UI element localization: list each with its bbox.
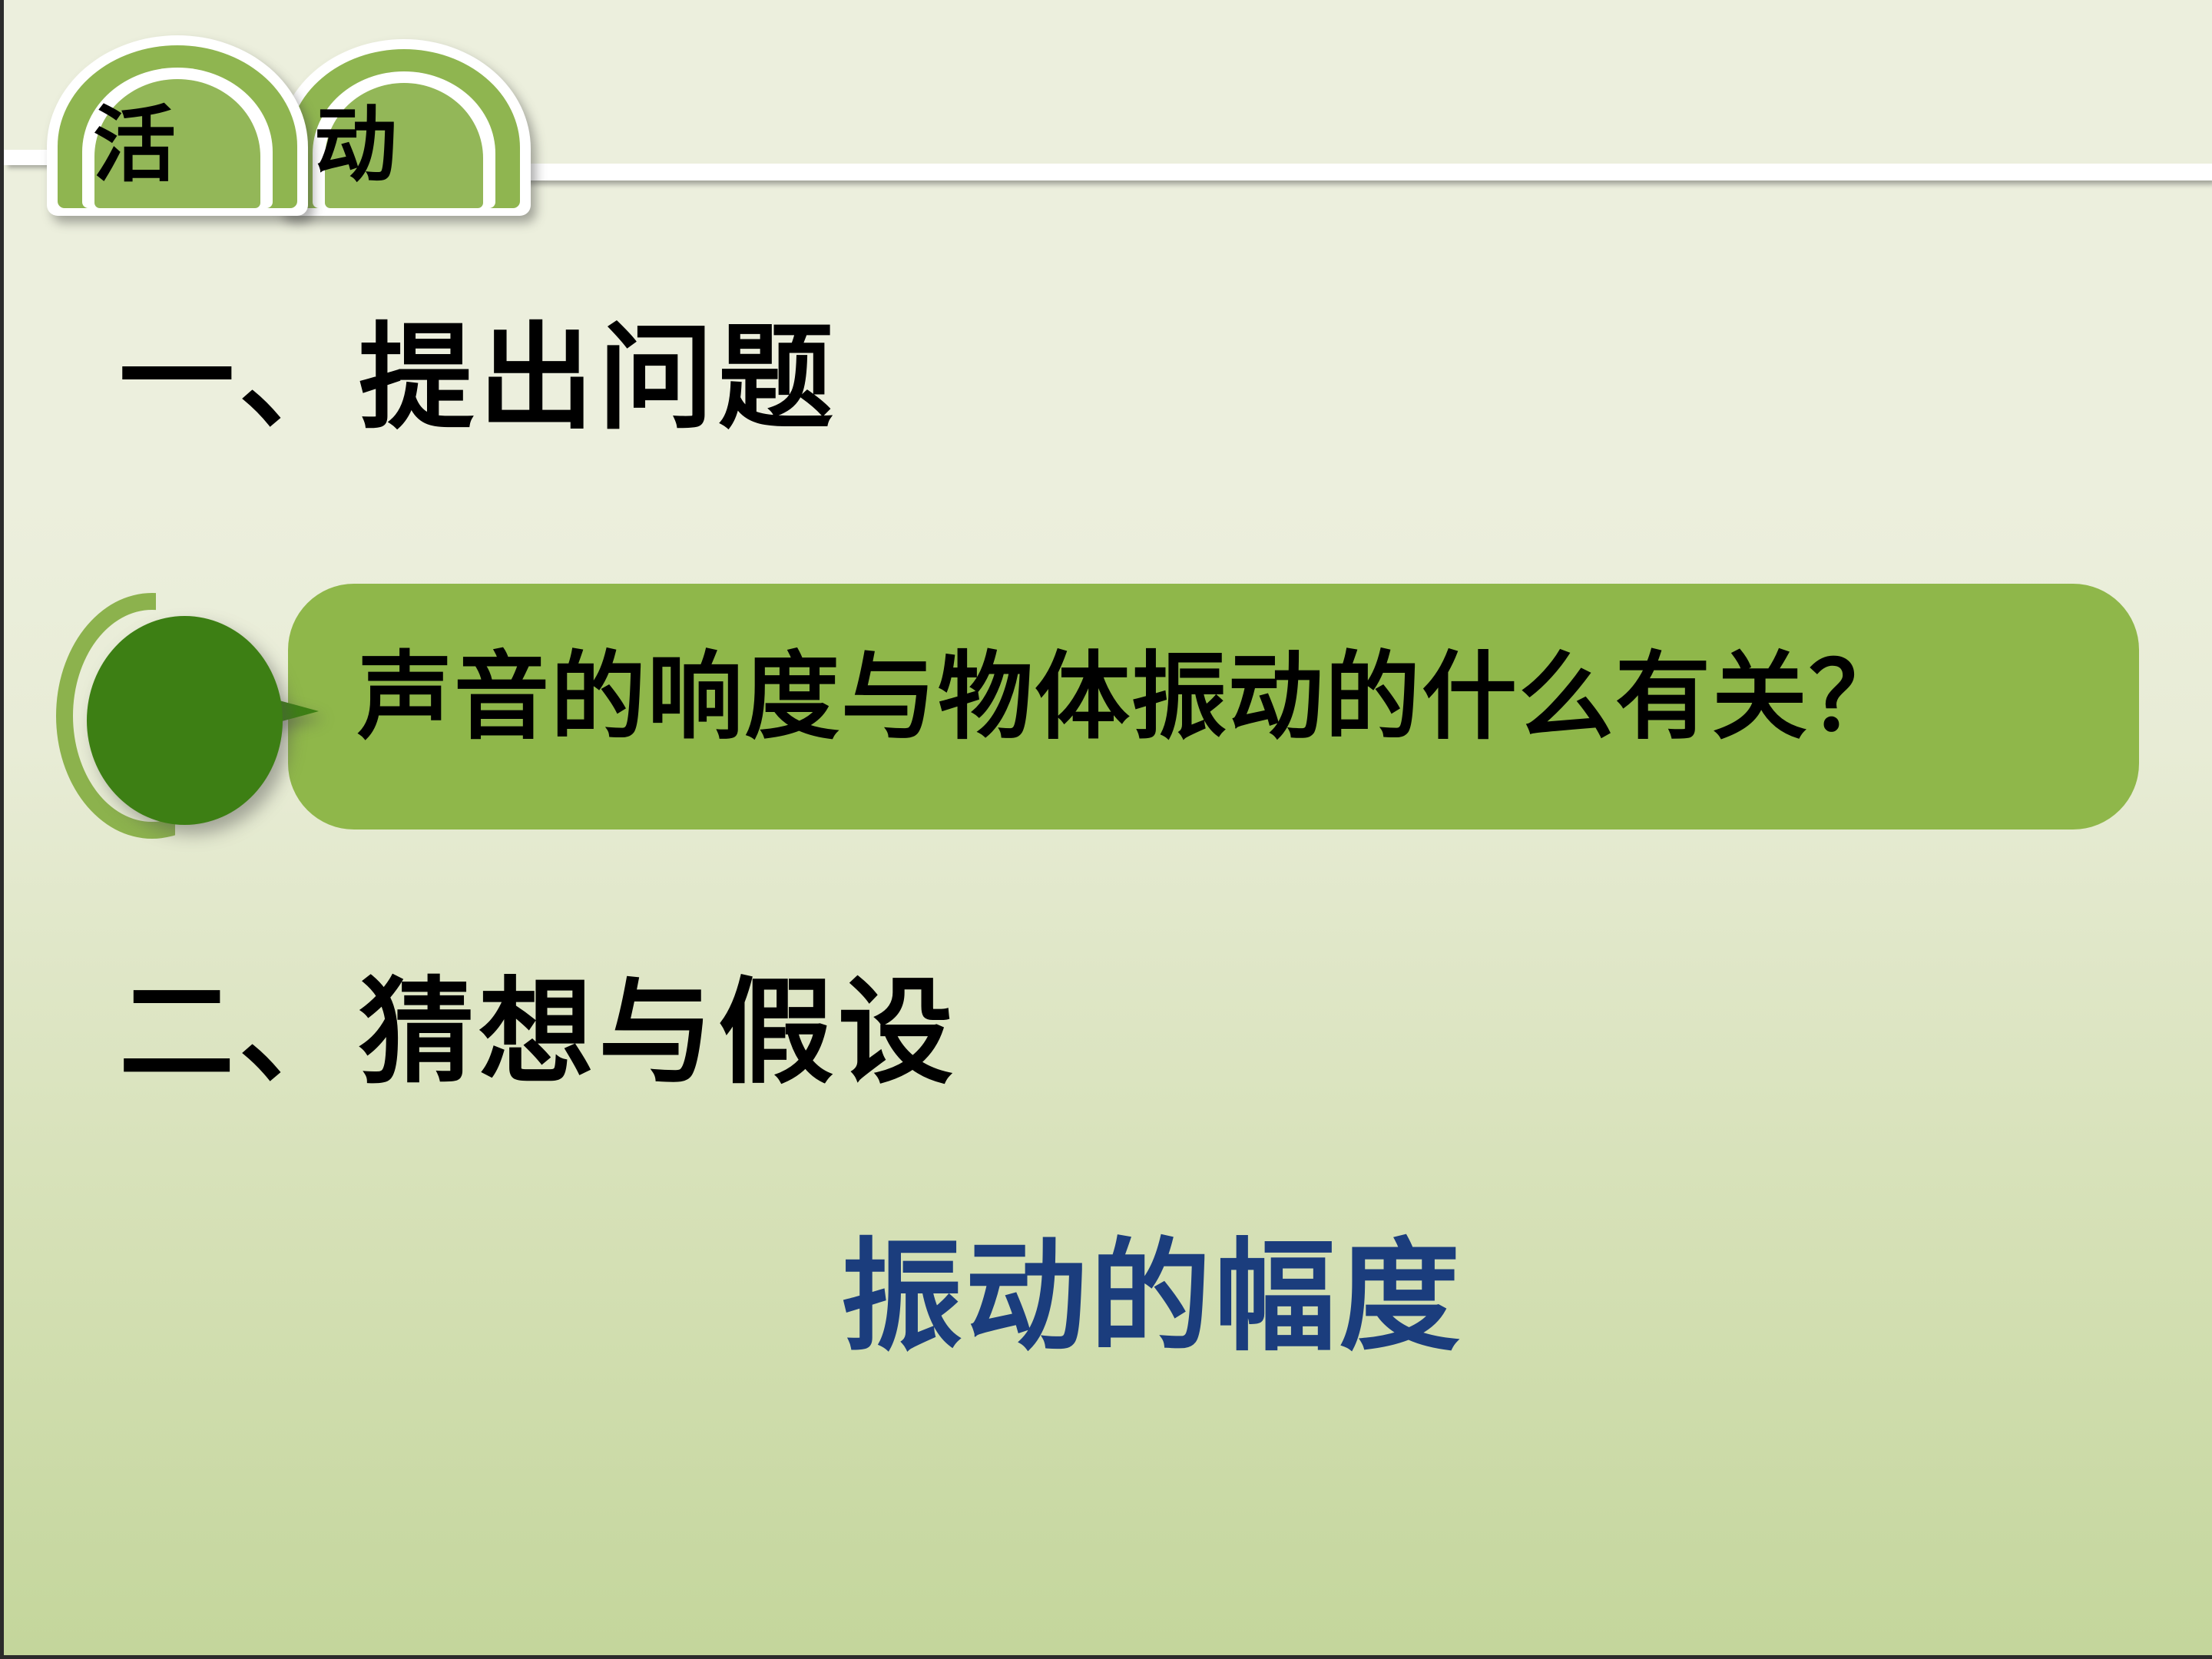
section-heading-two: 二、猜想与假设 — [119, 975, 958, 1091]
activity-badge: 活 动 — [47, 28, 554, 216]
badge-arch-left — [47, 35, 308, 216]
hypothesis-answer-text: 振动的幅度 — [841, 1237, 1463, 1358]
callout-bullet-dot — [87, 616, 283, 825]
section-heading-one: 一、提出问题 — [119, 321, 838, 436]
question-callout: 声音的响度与物体振动的什么有关？ — [50, 584, 2139, 845]
badge-char-first: 活 — [93, 104, 176, 187]
header-divider-right — [511, 164, 2212, 180]
callout-question-text: 声音的响度与物体振动的什么有关？ — [357, 650, 1906, 745]
slide-canvas: 活 动 一、提出问题 声音的响度与物体振动的什么有关？ 二、猜想与假设 振动的幅… — [0, 0, 2212, 1659]
badge-char-second: 动 — [314, 104, 397, 187]
